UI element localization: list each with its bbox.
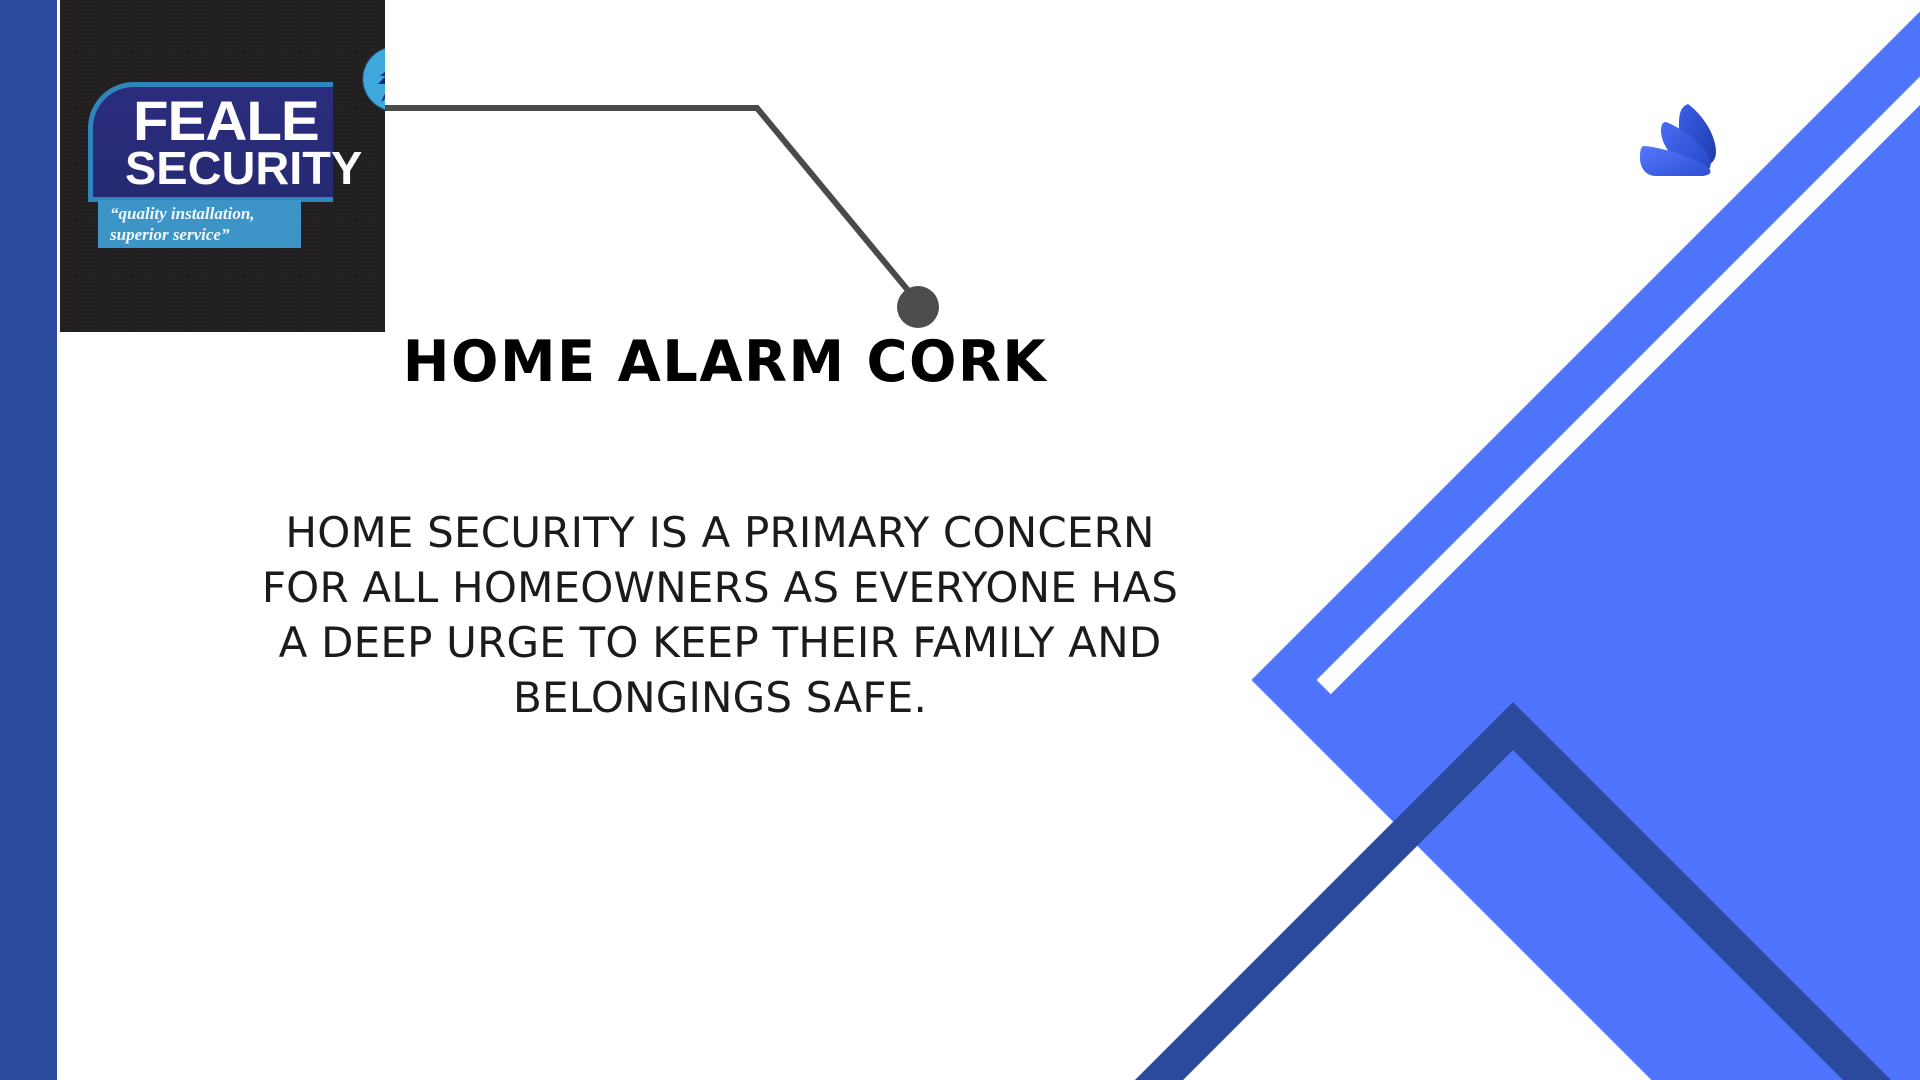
page-title: HOME ALARM CORK bbox=[15, 330, 1436, 394]
body-line-2: FOR ALL HOMEOWNERS AS EVERYONE HAS bbox=[190, 560, 1250, 615]
body-line-1: HOME SECURITY IS A PRIMARY CONCERN bbox=[190, 505, 1250, 560]
logo-tagline-line2: superior service” bbox=[110, 224, 301, 245]
connector-end-dot bbox=[897, 286, 939, 328]
logo-brand-line2: SECURITY bbox=[125, 145, 362, 191]
body-line-4: BELONGINGS SAFE. bbox=[190, 670, 1250, 725]
logo-tagline-band: “quality installation, superior service” bbox=[98, 200, 301, 248]
slide-canvas: FEALE SECURITY “quality installation, su… bbox=[0, 0, 1920, 1080]
lightning-bolt-icon bbox=[360, 44, 385, 114]
dark-blue-diamond-outline bbox=[816, 726, 1920, 1080]
connector-path bbox=[383, 108, 916, 300]
logo-badge-panel: FEALE SECURITY bbox=[88, 82, 333, 202]
logo-brand-line1: FEALE bbox=[133, 93, 319, 149]
feale-security-logo: FEALE SECURITY “quality installation, su… bbox=[60, 0, 385, 332]
body-paragraph: HOME SECURITY IS A PRIMARY CONCERN FOR A… bbox=[190, 505, 1250, 725]
logo-tagline-line1: “quality installation, bbox=[110, 203, 301, 224]
body-line-3: A DEEP URGE TO KEEP THEIR FAMILY AND bbox=[190, 615, 1250, 670]
